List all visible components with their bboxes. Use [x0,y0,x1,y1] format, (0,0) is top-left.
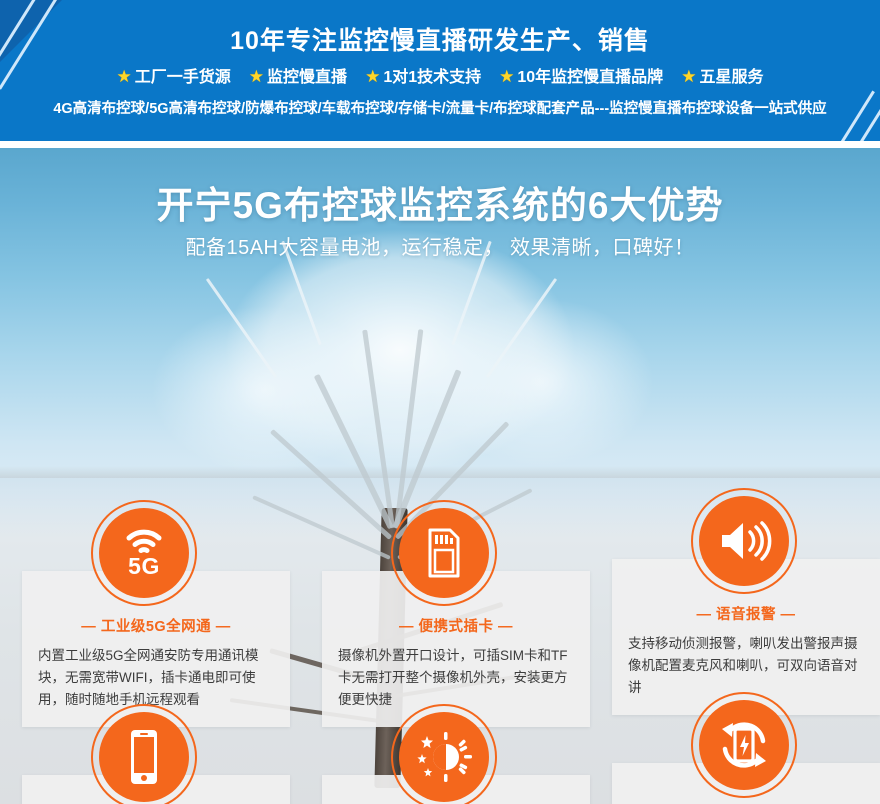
feature-icon-wrap-3 [691,488,797,594]
feature-card-description: 支持移动侦测报警，喇叭发出警报声摄像机配置麦克风和喇叭，可双向语音对讲 [628,633,864,699]
banner-subtitle: 4G高清布控球/5G高清布控球/防爆布控球/车载布控球/存储卡/流量卡/布控球配… [0,97,880,118]
feature-card-description: 摄像机外置开口设计，可插SIM卡和TF卡无需打开整个摄像机外壳，安装更方便更快捷 [338,645,574,711]
hero-section: 开宁5G布控球监控系统的6大优势 配备15AH大容量电池，运行稳定， 效果清晰，… [0,148,880,804]
feature-card-title: — 语音报警 — [628,603,864,624]
star-icon: ★ [365,67,380,86]
banner-feature-list: ★工厂一手货源★监控慢直播★1对1技术支持★10年监控慢直播品牌★五星服务 [0,63,880,87]
battery-recycle-icon [699,700,789,790]
top-banner: 10年专注监控慢直播研发生产、销售 ★工厂一手货源★监控慢直播★1对1技术支持★… [0,0,880,141]
star-icon: ★ [499,67,514,86]
star-icon: ★ [117,67,132,86]
feature-icon-wrap-5 [391,704,497,804]
feature-card-title: — 工业级5G全网通 — [38,615,274,636]
banner-feature-item: ★10年监控慢直播品牌 [499,63,663,87]
feature-icon-wrap-1: 5G [91,500,197,606]
feature-icon-wrap-6 [691,692,797,798]
smartphone-icon [99,712,189,802]
banner-feature-text-2: 1对1技术支持 [383,69,481,86]
banner-feature-text-3: 10年监控慢直播品牌 [517,69,663,86]
banner-feature-item: ★五星服务 [681,63,763,87]
star-icon: ★ [249,67,264,86]
banner-feature-item: ★工厂一手货源 [117,63,231,87]
hero-subtitle: 配备15AH大容量电池，运行稳定， 效果清晰，口碑好！ [0,231,880,260]
sim-card-icon [399,508,489,598]
banner-feature-item: ★1对1技术支持 [365,63,481,87]
banner-feature-text-4: 五星服务 [699,69,763,86]
wifi-5g-icon: 5G [99,508,189,598]
feature-icon-wrap-2 [391,500,497,606]
banner-title: 10年专注监控慢直播研发生产、销售 [0,21,880,57]
icon-5g-label: 5G [128,555,160,578]
day-night-icon [399,712,489,802]
star-icon: ★ [681,67,696,86]
banner-feature-text-0: 工厂一手货源 [135,69,231,86]
feature-icon-wrap-4 [91,704,197,804]
promo-page: 10年专注监控慢直播研发生产、销售 ★工厂一手货源★监控慢直播★1对1技术支持★… [0,0,880,804]
banner-feature-text-1: 监控慢直播 [267,69,347,86]
feature-card-description: 内置工业级5G全网通安防专用通讯模块，无需宽带WIFI，插卡通电即可使用，随时随… [38,645,274,711]
speaker-icon [699,496,789,586]
feature-card-title: — 便携式插卡 — [338,615,574,636]
hero-title: 开宁5G布控球监控系统的6大优势 [0,175,880,229]
banner-feature-item: ★监控慢直播 [249,63,347,87]
